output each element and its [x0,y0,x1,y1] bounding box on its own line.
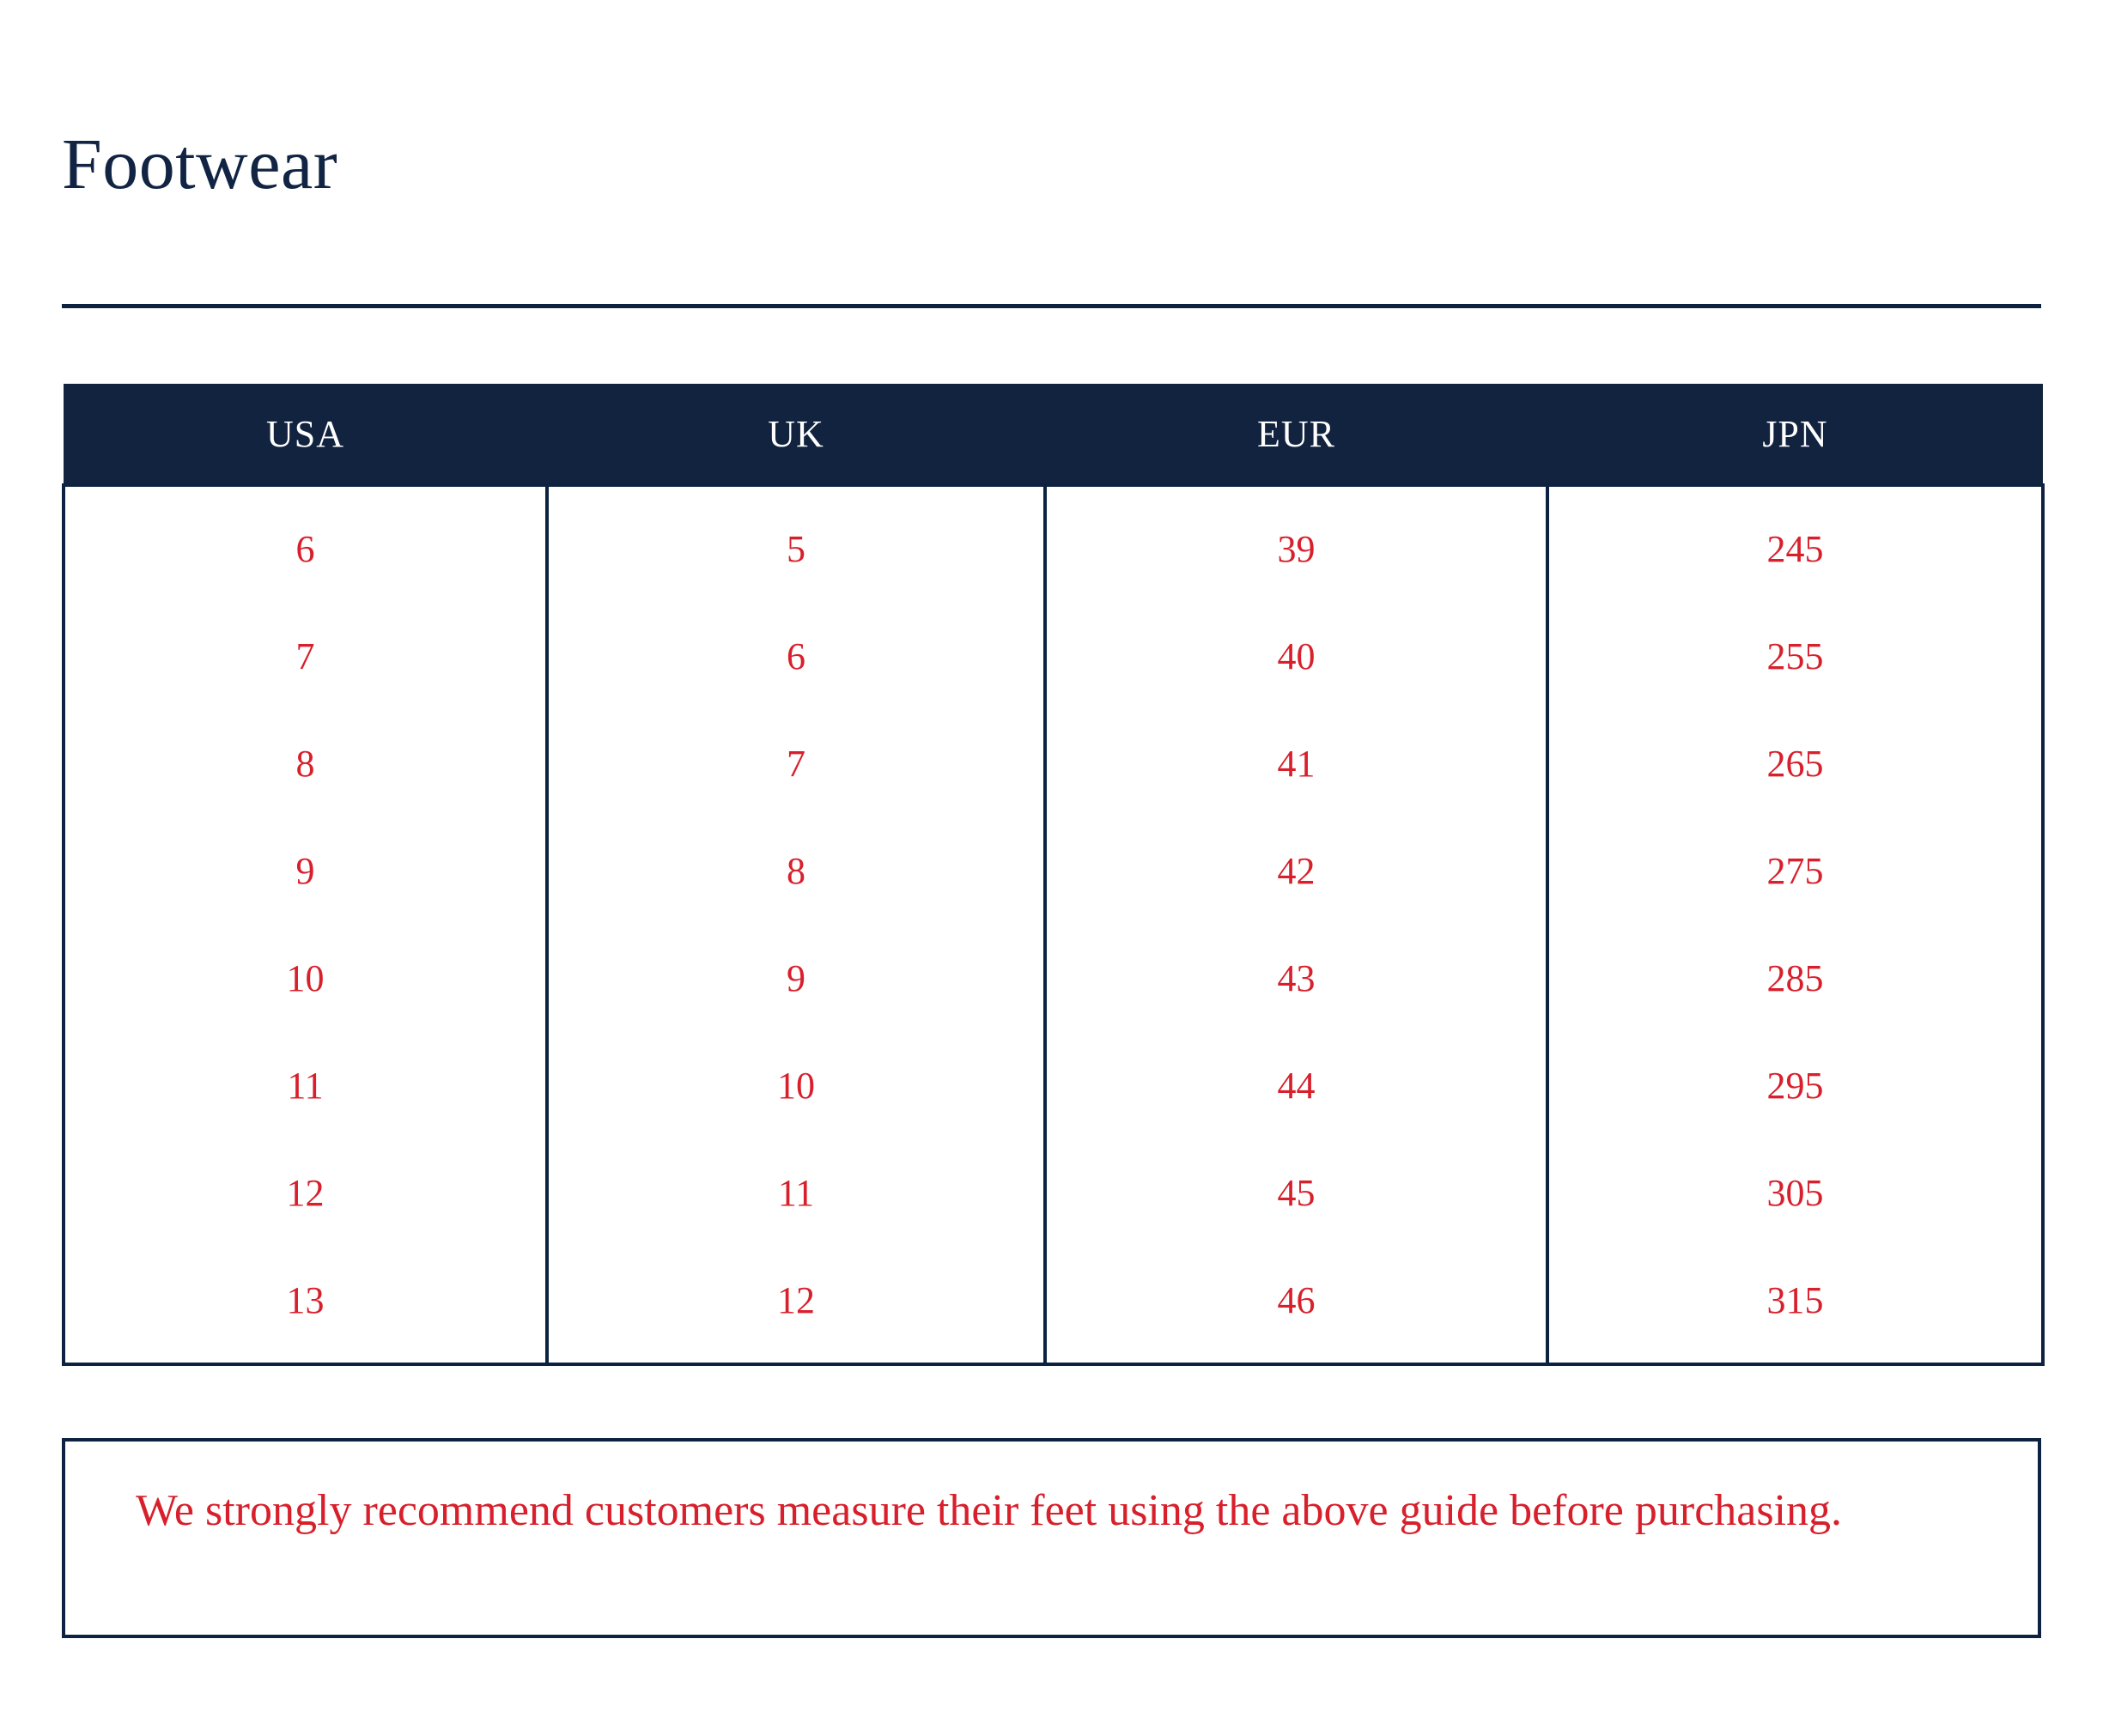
column-header-eur: EUR [1045,384,1547,485]
table-body: 6 5 39 245 7 6 40 255 8 7 41 265 9 8 42 [64,485,2043,1364]
cell-usa: 9 [64,817,547,925]
table-row: 13 12 46 315 [64,1247,2043,1364]
column-header-usa: USA [64,384,547,485]
cell-usa: 10 [64,925,547,1032]
cell-eur: 41 [1045,710,1547,817]
cell-eur: 45 [1045,1139,1547,1247]
table-row: 12 11 45 305 [64,1139,2043,1247]
table-row: 6 5 39 245 [64,485,2043,603]
cell-uk: 11 [547,1139,1045,1247]
table-row: 9 8 42 275 [64,817,2043,925]
cell-jpn: 275 [1547,817,2043,925]
cell-eur: 43 [1045,925,1547,1032]
recommendation-note-box: We strongly recommend customers measure … [62,1438,2041,1638]
title-divider-rule [62,304,2041,308]
cell-usa: 7 [64,603,547,710]
cell-jpn: 295 [1547,1032,2043,1139]
table-row: 11 10 44 295 [64,1032,2043,1139]
table-row: 7 6 40 255 [64,603,2043,710]
cell-uk: 10 [547,1032,1045,1139]
cell-uk: 6 [547,603,1045,710]
cell-jpn: 245 [1547,485,2043,603]
recommendation-note-text: We strongly recommend customers measure … [136,1482,1943,1541]
column-header-uk: UK [547,384,1045,485]
cell-usa: 12 [64,1139,547,1247]
cell-uk: 8 [547,817,1045,925]
cell-eur: 46 [1045,1247,1547,1364]
cell-jpn: 305 [1547,1139,2043,1247]
cell-jpn: 265 [1547,710,2043,817]
page-title: Footwear [62,129,337,201]
table-row: 8 7 41 265 [64,710,2043,817]
cell-jpn: 315 [1547,1247,2043,1364]
table-row: 10 9 43 285 [64,925,2043,1032]
table-header-row: USA UK EUR JPN [64,384,2043,485]
cell-eur: 40 [1045,603,1547,710]
cell-eur: 44 [1045,1032,1547,1139]
cell-eur: 39 [1045,485,1547,603]
cell-eur: 42 [1045,817,1547,925]
cell-uk: 5 [547,485,1045,603]
cell-usa: 13 [64,1247,547,1364]
cell-usa: 8 [64,710,547,817]
cell-uk: 12 [547,1247,1045,1364]
cell-uk: 7 [547,710,1045,817]
column-header-jpn: JPN [1547,384,2043,485]
cell-usa: 6 [64,485,547,603]
size-conversion-table: USA UK EUR JPN 6 5 39 245 7 6 40 255 8 7 [62,384,2045,1366]
cell-uk: 9 [547,925,1045,1032]
cell-jpn: 255 [1547,603,2043,710]
size-guide-page: Footwear USA UK EUR JPN 6 5 39 245 [0,0,2103,1736]
cell-usa: 11 [64,1032,547,1139]
cell-jpn: 285 [1547,925,2043,1032]
